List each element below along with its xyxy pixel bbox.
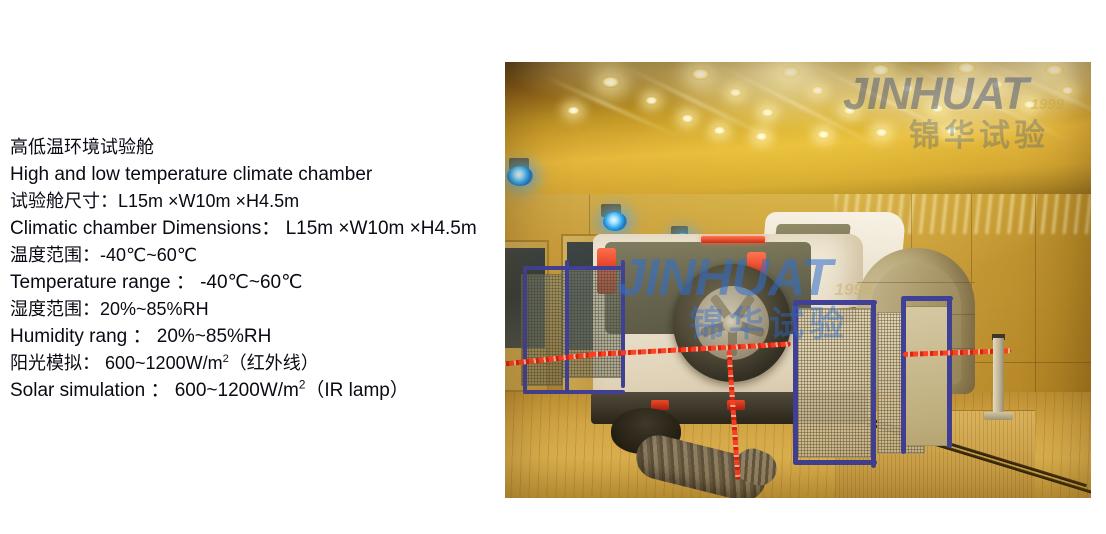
barrier-post <box>871 302 876 468</box>
spec-solar-en-prefix: Solar simulation ： 600~1200W/m <box>10 380 299 401</box>
solar-lamp <box>567 106 580 115</box>
spec-line-temperature-en: Temperature range ： -40℃~60℃ <box>10 269 510 296</box>
barrier-post <box>901 298 906 454</box>
photo-scene: JINHUAT1999 锦华试验 JINHUAT1999 锦华试验 <box>505 62 1091 498</box>
solar-lamp <box>817 130 830 139</box>
solar-lamp <box>991 80 1004 89</box>
solar-lamp <box>691 68 710 80</box>
solar-lamp <box>945 126 958 135</box>
barrier-top-rail <box>523 266 625 270</box>
solar-lamp <box>1023 100 1036 109</box>
solar-lamp <box>931 104 944 113</box>
solar-lamp <box>811 86 824 95</box>
spec-line-solar-cn: 阳光模拟： 600~1200W/m2（红外线） <box>10 350 510 377</box>
solar-lamp <box>1045 64 1064 76</box>
spec-line-title-en: High and low temperature climate chamber <box>10 161 510 188</box>
safety-mesh-panel <box>561 266 623 378</box>
barrier-bottom-rail <box>523 390 625 394</box>
rim-hub <box>723 314 742 333</box>
barrier-post <box>523 268 527 394</box>
barrier-post <box>947 298 952 448</box>
spec-solar-cn-suffix: （红外线） <box>229 353 319 373</box>
spec-line-humidity-cn: 湿度范围：20%~85%RH <box>10 296 510 323</box>
solar-lamp <box>781 66 800 78</box>
solar-lamp <box>729 88 742 97</box>
barrier-post <box>621 260 625 388</box>
spec-line-dimensions-cn: 试验舱尺寸：L15m ×W10m ×H4.5m <box>10 188 510 215</box>
blue-spot-lamp <box>603 212 627 231</box>
spec-line-dimensions-en: Climatic chamber Dimensions： L15m ×W10m … <box>10 215 510 242</box>
spec-line-humidity-en: Humidity rang ： 20%~85%RH <box>10 323 510 350</box>
spec-line-title-cn: 高低温环境试验舱 <box>10 134 510 161</box>
blue-spot-lamp <box>507 166 533 186</box>
solar-lamp <box>843 106 856 115</box>
barrier-top-rail <box>901 296 953 301</box>
solar-lamp <box>1061 86 1074 95</box>
solar-lamp <box>875 128 888 137</box>
chamber-ceiling <box>505 62 1091 194</box>
safety-mesh-panel <box>521 274 563 386</box>
spec-solar-en-suffix: （IR lamp） <box>305 380 408 401</box>
wall-panel-seam <box>1035 180 1036 406</box>
solar-lamp <box>755 132 768 141</box>
barrier-post <box>793 302 798 464</box>
spec-solar-cn-prefix: 阳光模拟： 600~1200W/m <box>10 353 223 373</box>
safety-mesh-panel <box>797 308 875 458</box>
solar-lamp <box>601 76 620 88</box>
suv-high-brake-light <box>701 236 765 243</box>
solar-lamp <box>761 108 774 117</box>
solar-lamp <box>645 96 658 105</box>
bollard-base <box>984 412 1013 420</box>
barrier-top-rail <box>793 300 877 305</box>
solar-lamp <box>713 126 726 135</box>
floor-bollard <box>993 338 1004 414</box>
solar-lamp <box>901 84 914 93</box>
equipment-cabinet-panel <box>903 306 949 446</box>
barrier-post <box>565 260 569 392</box>
spec-line-solar-en: Solar simulation ： 600~1200W/m2（IR lamp） <box>10 377 510 404</box>
solar-lamp <box>681 114 694 123</box>
barrier-bottom-rail <box>793 460 877 465</box>
solar-lamp <box>957 62 976 74</box>
duct-rib <box>857 282 975 283</box>
spec-line-temperature-cn: 温度范围：-40℃~60℃ <box>10 242 510 269</box>
solar-lamp <box>871 64 890 76</box>
specifications-text-block: 高低温环境试验舱 High and low temperature climat… <box>10 134 510 404</box>
climate-chamber-photo: JINHUAT1999 锦华试验 JINHUAT1999 锦华试验 <box>505 62 1091 498</box>
